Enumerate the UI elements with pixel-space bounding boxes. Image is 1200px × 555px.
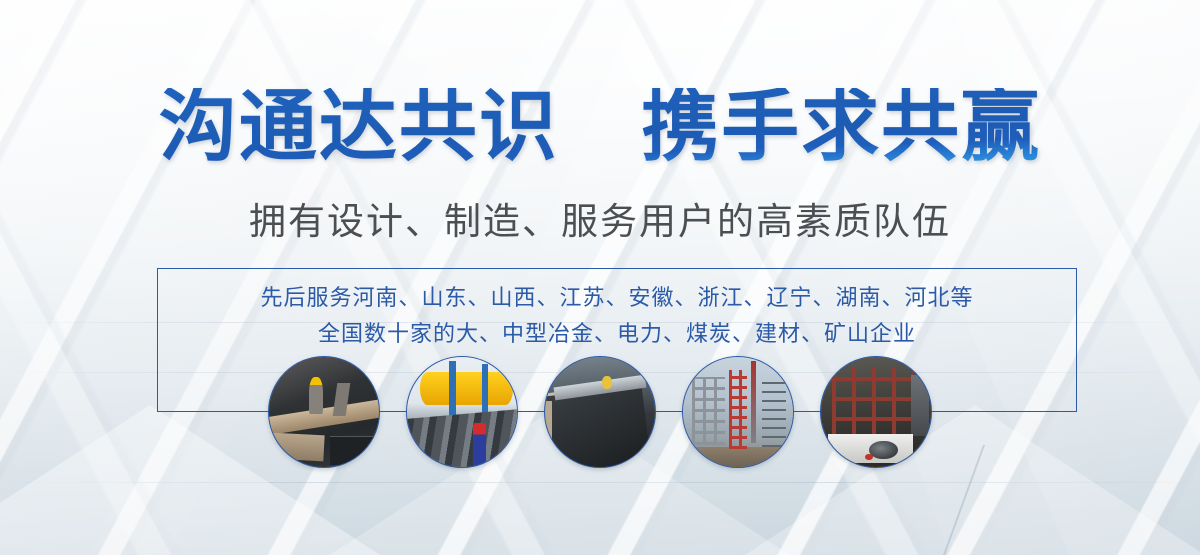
info-box-line-1: 先后服务河南、山东、山西、江苏、安徽、浙江、辽宁、湖南、河北等 (158, 281, 1076, 317)
banner-subtitle: 拥有设计、制造、服务用户的高素质队伍 (0, 200, 1200, 244)
promotional-banner: 沟通达共识 携手求共赢 拥有设计、制造、服务用户的高素质队伍 先后服务河南、山东… (0, 0, 1200, 555)
banner-headline: 沟通达共识 携手求共赢 (0, 88, 1200, 166)
info-box-line-2: 全国数十家的大、中型冶金、电力、煤炭、建材、矿山企业 (158, 317, 1076, 353)
photo-plant-construction-steelwork[interactable] (682, 356, 794, 468)
photo-yellow-machinery-pipes[interactable] (406, 356, 518, 468)
photo-workers-lining-installation[interactable] (268, 356, 380, 468)
photo-factory-interior-equipment[interactable] (820, 356, 932, 468)
project-photo-row (268, 356, 932, 470)
info-box-text: 先后服务河南、山东、山西、江苏、安徽、浙江、辽宁、湖南、河北等 全国数十家的大、… (158, 281, 1076, 353)
headline-part-one: 沟通达共识 (159, 82, 559, 172)
photo-metal-ductwork-hopper[interactable] (544, 356, 656, 468)
headline-part-two: 携手求共赢 (641, 82, 1041, 172)
